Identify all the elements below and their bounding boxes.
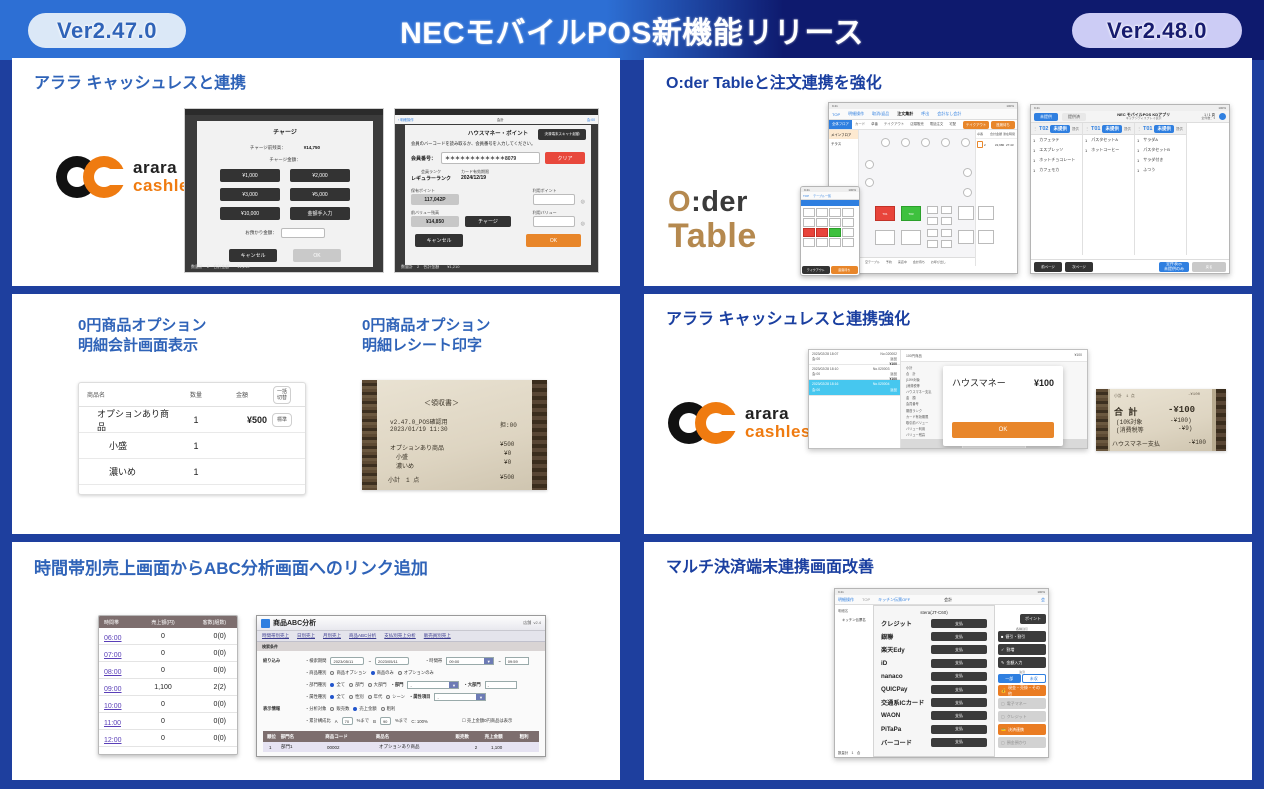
- th-stay: 滞在時間: [1003, 132, 1016, 136]
- card-title: 時間帯別売上画面からABC分析画面へのリンク追加: [12, 542, 620, 580]
- table-header-row: 商品名 数量 金額 一括切替: [79, 383, 305, 407]
- payment-method-dialog: stera(JT-C60) クレジット 支払 銀聯 支払 楽天Edy 支払 i: [873, 605, 995, 757]
- deposit-label: お預かり金額：: [245, 230, 277, 236]
- zero-filter-checkbox[interactable]: ☐ 売上金額0円商品は表示: [462, 718, 512, 724]
- th-profit: 粗利: [520, 734, 539, 740]
- receipt-tax-amount2: -¥9): [1178, 425, 1192, 432]
- order-item[interactable]: 1パスタセットA: [1083, 135, 1134, 145]
- radio-option[interactable]: 商品オプション: [330, 670, 366, 676]
- table-cell-red[interactable]: T01: [875, 206, 895, 221]
- ratio-unit: %まで: [357, 718, 369, 724]
- nav-back[interactable]: ‹ 明細操作: [398, 117, 414, 122]
- th-dept: 部門名: [281, 734, 326, 740]
- payment-method-row[interactable]: 交通系ICカード 支払: [874, 696, 994, 709]
- time-to-select[interactable]: 09:59: [505, 657, 529, 665]
- radio-option[interactable]: 粗利: [381, 706, 396, 712]
- cell-dept: 部門1: [281, 744, 327, 750]
- th-amount: 売上金額: [485, 734, 520, 740]
- nav-detail[interactable]: 明細操作: [848, 111, 864, 117]
- legend-call: お呼び出し: [931, 260, 946, 264]
- result-header-row: 順位 部門名 商品コード 商品名 販売数 売上金額 粗利: [263, 731, 539, 742]
- th-product-name: 商品名: [87, 390, 175, 399]
- attr-select[interactable]: -▼: [434, 693, 486, 701]
- deposit-button[interactable]: ▢預金預かり: [998, 737, 1046, 748]
- dept-type-label: ・部門種別: [305, 682, 326, 688]
- order-column: ⋮ T02 未提供 提供 1カフェラテ 1エスプレッソ 1ホットチョコレート 1…: [1031, 123, 1083, 255]
- card-hourly-abc-link: 時間帯別売上画面からABC分析画面へのリンク追加 時間帯 売上額(円) 客数(組…: [12, 542, 620, 780]
- pay-button[interactable]: 支払: [931, 738, 987, 747]
- history-row[interactable]: 2023/02/28 18:10 No.020003 会:00 返品 ¥100: [809, 365, 900, 380]
- card-title-a-line2: 明細会計画面表示: [78, 336, 298, 356]
- tab-delivery[interactable]: 宅配: [946, 123, 959, 127]
- amount-input-button[interactable]: ✎金額入力: [998, 657, 1046, 668]
- page-header: NECモバイルPOS新機能リリース Ver2.47.0 Ver2.48.0: [0, 0, 1264, 60]
- oder-logo-rest: :der: [691, 186, 748, 218]
- product-type-label: ・商品種別: [305, 670, 326, 676]
- charge-amount-button[interactable]: ¥10,000: [220, 207, 280, 220]
- charge-amount-button[interactable]: ¥5,000: [290, 188, 350, 201]
- nav-user[interactable]: 会:00: [587, 117, 595, 122]
- cancel-button[interactable]: キャンセル: [415, 234, 463, 247]
- nav-link[interactable]: 支払別売上分析: [384, 633, 416, 639]
- order-header: 未提供 提供済 NEC モバイルPOS KDアプリ キッチンディスプレイ表示 1…: [1031, 111, 1229, 123]
- nav-bar: 明細操作 TOP キッチン伝票OFF 会計 会: [835, 595, 1048, 605]
- ratio-b-input[interactable]: 90: [380, 717, 391, 725]
- nav-link[interactable]: 月別売上: [323, 633, 341, 639]
- card-arara-strengthen: アララ キャッシュレスと連携強化 arara cashless 2023/02/…: [644, 294, 1252, 534]
- nav-call[interactable]: 呼出: [921, 111, 929, 117]
- receipt-top-amount: -¥100: [1188, 393, 1200, 397]
- cell-amount: 1,100: [491, 745, 527, 750]
- partial-button[interactable]: 一部: [998, 674, 1021, 683]
- order-column: ⋮ T01 未提供 提供 1パスタセットA 1ホットコーヒー: [1083, 123, 1135, 255]
- cell-sales: 0: [139, 735, 187, 742]
- left-column: アララ キャッシュレスと連携 arara cashless チャージ チャージ前…: [12, 58, 632, 788]
- screenshot-order-tablet: 9:41100% 未提供 提供済 NEC モバイルPOS KDアプリ キッチンデ…: [1030, 104, 1230, 274]
- cell-code: 00002: [327, 745, 379, 750]
- cell-product-name: オプションあり商品: [87, 407, 175, 433]
- pay-button[interactable]: 支払: [931, 645, 987, 654]
- receipt-item-amount: ¥0: [504, 459, 511, 466]
- result-row[interactable]: 1 部門1 00002 オプションあり商品 2 1,100: [263, 742, 539, 752]
- nav-link[interactable]: 販売員別売上: [424, 633, 451, 639]
- th-rank: 順位: [263, 734, 281, 740]
- tab-takeout[interactable]: テイクアウト: [881, 123, 907, 127]
- payment-method-row[interactable]: 楽天Edy 支払: [874, 643, 994, 656]
- receipt-pay-label: ハウスマネー支払: [1112, 439, 1160, 448]
- charge-modal: チャージ チャージ前残高： ¥14,750 チャージ金額： ¥1,000 ¥2,…: [197, 121, 373, 267]
- cell-guests: 0(0): [187, 650, 233, 657]
- badge-unserved[interactable]: 未提供: [1154, 125, 1174, 133]
- radio-option[interactable]: 大部門: [368, 682, 387, 688]
- th-amount: 金額: [217, 390, 267, 399]
- table-row[interactable]: 濃いめ 1: [79, 459, 305, 485]
- amount-label: チャージ金額：: [197, 157, 373, 163]
- radio-option[interactable]: 全て: [330, 694, 345, 700]
- arara-mark-icon: [56, 156, 124, 198]
- member-label: 会員番号：: [411, 155, 436, 162]
- order-table-no: T01: [1143, 126, 1152, 132]
- tab-storefront[interactable]: 店頭販売: [907, 123, 927, 127]
- history-row[interactable]: 2023/02/28 18:07 No.020002 会:00 返品 ¥100: [809, 350, 900, 365]
- order-subtitle: キッチンディスプレイ表示: [1090, 117, 1197, 120]
- ok-button[interactable]: OK: [293, 249, 341, 262]
- badge-unserved[interactable]: 未提供: [1050, 125, 1070, 133]
- emoney-button[interactable]: ▢電子マネー: [998, 698, 1046, 709]
- dialog-title: stera(JT-C60): [874, 606, 994, 617]
- dept-select[interactable]: -▼: [407, 681, 459, 689]
- table-row[interactable]: 06:00 0 0(0): [99, 628, 237, 645]
- manual-amount-button[interactable]: 金額手入力: [290, 207, 350, 220]
- receipt-datetime: 2023/01/19 11:30: [390, 426, 448, 433]
- radio-option[interactable]: 部門: [349, 682, 364, 688]
- card-title-b-line1: 0円商品オプション: [362, 316, 592, 336]
- cell-stay: 27:43: [1006, 143, 1016, 147]
- order-item[interactable]: 1サラダ付き: [1135, 155, 1186, 165]
- screenshot-receipt-photo: 小計 1 点 -¥100 合 計 -¥100 (10%対象 -¥100) (消費…: [1096, 389, 1226, 451]
- payment-method-row[interactable]: WAON 支払: [874, 709, 994, 722]
- cell-guests: 2(2): [187, 684, 233, 691]
- th-time: 時間帯: [99, 619, 139, 626]
- waiting-button[interactable]: 座席待ち: [991, 121, 1015, 129]
- takeout-button[interactable]: テイクアウト: [963, 121, 989, 129]
- cancel-button[interactable]: キャンセル: [229, 249, 277, 262]
- ratio-b-label: B: [373, 719, 376, 724]
- receipt-item-name: 濃いめ: [390, 461, 414, 470]
- cell-guests: 0(0): [187, 701, 233, 708]
- nav-title: 会計: [497, 117, 504, 122]
- pay-button[interactable]: 支払: [931, 632, 987, 641]
- table-row[interactable]: 07:00 0 0(0): [99, 645, 237, 662]
- cell-sales: 0: [139, 701, 187, 708]
- abc-nav: 時間帯別売上 日別売上 月別売上 商品ABC分析 支払別売上分析 販売員別売上: [257, 631, 545, 642]
- payment-method-row[interactable]: nanaco 支払: [874, 670, 994, 683]
- abc-title: 商品ABC分析: [273, 618, 316, 628]
- phone-nav-top[interactable]: TOP: [803, 194, 809, 198]
- cell-sales: 1,100: [139, 684, 187, 691]
- ok-button[interactable]: OK: [526, 234, 581, 247]
- cell-rank: 1: [263, 745, 281, 750]
- payment-method-row[interactable]: 銀聯 支払: [874, 630, 994, 643]
- charge-amount-button[interactable]: ¥1,000: [220, 169, 280, 182]
- receipt-heading: ＜領収書＞: [424, 398, 459, 408]
- surcharge-button[interactable]: ✓割増: [998, 644, 1046, 655]
- prev-page-button[interactable]: 前ページ: [1034, 262, 1062, 272]
- payment-footer: 数量計 1 合: [838, 750, 860, 755]
- charge-amount-button[interactable]: ¥3,000: [220, 188, 280, 201]
- badge-served[interactable]: 提供: [1176, 126, 1183, 131]
- tab-seat[interactable]: 卓番: [868, 123, 881, 127]
- nav-link[interactable]: 日別売上: [297, 633, 315, 639]
- receipt-top-line: 小計 1 点: [1114, 393, 1135, 399]
- nav-top[interactable]: TOP: [862, 597, 870, 602]
- time-from-select[interactable]: 09:00▼: [446, 657, 494, 665]
- nav-user[interactable]: 会: [1041, 597, 1045, 603]
- cell-product-name: 小盛: [87, 439, 175, 452]
- radio-option[interactable]: シーン: [386, 694, 405, 700]
- cell-guests: 0(0): [187, 667, 233, 674]
- receipt-item-name: 小盛: [390, 452, 408, 461]
- arara-mark-icon: [668, 402, 736, 444]
- history-row-selected[interactable]: 2023/02/28 18:16 No.020004 会:00 返品: [809, 380, 900, 395]
- floor-item-terrace[interactable]: テラス: [829, 139, 858, 148]
- nav-kitchen-slip[interactable]: キッチン伝票OFF: [878, 597, 910, 603]
- use-value-input[interactable]: [533, 216, 575, 227]
- screenshot-receipt-photo: ＜領収書＞ v2.47.0_POS確認用 2023/01/19 11:30 担:…: [362, 380, 547, 490]
- table-cell-green[interactable]: T03: [901, 206, 921, 221]
- receipt-staff: 担:00: [500, 420, 517, 429]
- target-label: ・分析対象: [305, 706, 326, 712]
- pay-button[interactable]: 支払: [931, 672, 987, 681]
- payment-link-button[interactable]: 💳決済連携: [998, 724, 1046, 735]
- nav-link[interactable]: 時間帯別売上: [262, 633, 289, 639]
- tab-bar: 全体フロア カード 卓番 テイクアウト 店頭販売 電話注文 宅配 テイクアウト …: [829, 120, 1017, 130]
- tab-served[interactable]: 提供済: [1062, 113, 1086, 121]
- th-total: 合計金額: [990, 132, 1003, 136]
- nav-top[interactable]: TOP: [832, 112, 840, 117]
- screenshot-option-table: 商品名 数量 金額 一括切替 オプションあり商品 1 ¥500 標準 小盛 1 …: [78, 382, 306, 495]
- scan-button[interactable]: 決済端末スキャナ起動: [538, 129, 586, 140]
- receipt-store: v2.47.0_POS確認用: [390, 417, 448, 426]
- receipt-item-amount: ¥0: [504, 450, 511, 457]
- order-table-no: T02: [1039, 126, 1048, 132]
- order-icon: [977, 141, 983, 148]
- window-title-bar: 商品ABC分析 店舗 v2.4: [257, 616, 545, 631]
- phone-nav-tables[interactable]: テーブル一覧: [813, 194, 831, 198]
- back-button[interactable]: 戻る: [1192, 262, 1226, 272]
- table-row[interactable]: 小盛 1: [79, 433, 305, 459]
- expiry-value: 2024/12/19: [461, 175, 489, 181]
- cell-product-name: 濃いめ: [87, 465, 175, 478]
- th-qty: 数量: [175, 390, 217, 399]
- card-multi-payment: マルチ決済端末連携画面改善 9:41100% 明細操作 TOP キッチン伝票OF…: [644, 542, 1252, 780]
- radio-option[interactable]: 商品のみ: [371, 670, 394, 676]
- order-item[interactable]: 1ふつう: [1135, 165, 1186, 175]
- version-badge-right: Ver2.48.0: [1072, 13, 1242, 48]
- discount-button[interactable]: ■値引・割引: [998, 631, 1046, 642]
- deposit-input[interactable]: [281, 228, 325, 238]
- charge-footer: 数量計 2 合計金額 ¥1,210: [191, 264, 249, 270]
- receipt-subtotal-value: ¥500: [500, 474, 514, 481]
- radio-option[interactable]: 全て: [330, 682, 345, 688]
- legend-empty: 空テーブル: [865, 260, 880, 264]
- time-link[interactable]: 10:00: [104, 703, 122, 710]
- radio-option[interactable]: 性別: [349, 694, 364, 700]
- radio-option[interactable]: オプションのみ: [398, 670, 434, 676]
- time-link[interactable]: 11:00: [104, 720, 121, 727]
- ratio-c: C: 100%: [411, 719, 427, 724]
- pay-button[interactable]: 支払: [931, 711, 987, 720]
- order-item[interactable]: 1エスプレッソ: [1031, 145, 1082, 155]
- bulk-toggle-button[interactable]: 一括切替: [273, 386, 291, 404]
- pay-button[interactable]: 支払: [931, 698, 987, 707]
- time-link[interactable]: 09:00: [104, 686, 122, 693]
- gear-icon[interactable]: [1219, 113, 1226, 120]
- receipt-subtotal-label: 小計 1 点: [388, 475, 419, 484]
- order-item[interactable]: 1ホットチョコレート: [1031, 155, 1082, 165]
- filter-toggle-button[interactable]: 全件表示未提供のみ: [1159, 262, 1189, 272]
- pay-button[interactable]: 支払: [931, 725, 987, 734]
- major-dept-label: ・大部門: [463, 682, 480, 688]
- abc-version: v2.4: [533, 620, 541, 625]
- tab-card[interactable]: カード: [852, 123, 868, 127]
- radio-option[interactable]: 年代: [368, 694, 383, 700]
- time-link[interactable]: 12:00: [104, 737, 122, 744]
- unpaid-button[interactable]: 未収: [1022, 674, 1047, 683]
- radio-option[interactable]: 販売数: [330, 706, 349, 712]
- time-link[interactable]: 06:00: [104, 635, 122, 642]
- badge-served[interactable]: 提供: [1124, 126, 1131, 131]
- oder-logo-o: O: [668, 186, 691, 218]
- legend-visiting: 来店中: [898, 260, 907, 264]
- cell-amount: ¥500: [217, 415, 267, 425]
- cell-sales: 0: [139, 633, 187, 640]
- order-count: 全件数：3: [1201, 117, 1215, 121]
- order-table-no: T01: [1091, 126, 1100, 132]
- tab-phone[interactable]: 電話注文: [927, 123, 947, 127]
- floor-map[interactable]: T01 T03 空テーブル: [859, 130, 975, 266]
- order-item[interactable]: 1カフェモカ: [1031, 165, 1082, 175]
- right-column: O:der Tableと注文連携を強化 O:der Table 9:41100%…: [644, 58, 1264, 788]
- table-row[interactable]: 10:00 0 0(0): [99, 696, 237, 713]
- modal-title: ハウスマネー: [952, 376, 1006, 389]
- badge-served[interactable]: 提供: [1072, 126, 1079, 131]
- screenshot-charge-dialog: チャージ チャージ前残高： ¥14,750 チャージ金額： ¥1,000 ¥2,…: [184, 108, 384, 273]
- nav-cancel[interactable]: 取消/返品: [872, 111, 889, 117]
- order-item[interactable]: 1サラダA: [1135, 135, 1186, 145]
- table-row[interactable]: 08:00 0 0(0): [99, 662, 237, 679]
- payment-method-row[interactable]: PiTaPa 支払: [874, 723, 994, 736]
- payment-method-row[interactable]: QUICPay 支払: [874, 683, 994, 696]
- tab-all-floor[interactable]: 全体フロア: [829, 120, 852, 129]
- cell-sales: 0: [139, 650, 187, 657]
- credit-button[interactable]: ▢クレジット: [998, 711, 1046, 722]
- detail-product-amount: ¥100: [1074, 353, 1082, 358]
- screenshot-hourly-sales: 時間帯 売上額(円) 客数(組数) 06:00 0 0(0) 07:00 0 0…: [98, 615, 238, 755]
- payment-method-row[interactable]: クレジット 支払: [874, 617, 994, 630]
- phone-waiting-button[interactable]: 座席待ち: [831, 266, 859, 274]
- clear-button[interactable]: クリア: [545, 152, 585, 164]
- charge-amount-button[interactable]: ¥2,000: [290, 169, 350, 182]
- floor-item-main[interactable]: メインフロア: [829, 130, 858, 139]
- cell-sales: 0: [139, 718, 187, 725]
- period-to-input[interactable]: 2023/05/11: [375, 657, 409, 665]
- screenshot-payment-screen: 9:41100% 明細操作 TOP キッチン伝票OFF 会計 会 明細名 キッチ…: [834, 588, 1049, 758]
- abc-user: 店舗: [523, 620, 531, 625]
- next-page-button[interactable]: 次ページ: [1065, 262, 1093, 272]
- payment-method-row[interactable]: バーコード 支払: [874, 736, 994, 749]
- receipt-item-amount: ¥500: [500, 441, 514, 448]
- table-row[interactable]: 11:00 0 0(0): [99, 713, 237, 730]
- period-from-input[interactable]: 2023/05/11: [330, 657, 364, 665]
- charge-modal-title: チャージ: [197, 127, 373, 136]
- table-row[interactable]: 09:00 1,100 2(2): [99, 679, 237, 696]
- oder-logo-table: Table: [668, 219, 757, 253]
- ratio-a-input[interactable]: 70: [342, 717, 353, 725]
- charge-button[interactable]: チャージ: [465, 216, 511, 227]
- th-sales: 売上額(円): [139, 619, 187, 626]
- arara-logo: arara cashless: [668, 402, 821, 444]
- card-title: アララ キャッシュレスと連携: [12, 58, 620, 95]
- dept-label: ・部門: [391, 682, 404, 688]
- receipt-tax-amount1: -¥100): [1170, 417, 1192, 424]
- ratio-unit-2: %まで: [395, 718, 407, 724]
- cell-guests: 0(0): [187, 735, 233, 742]
- cash-other-button[interactable]: 💰現金・売掛・その他: [998, 685, 1046, 696]
- tab-unserved[interactable]: 未提供: [1034, 113, 1058, 121]
- legend-checkout: 会計待ち: [913, 260, 925, 264]
- order-item[interactable]: 1カフェラテ: [1031, 135, 1082, 145]
- house-money-modal: ハウスマネー ¥100 OK: [943, 366, 1063, 446]
- card-oder-table: O:der Tableと注文連携を強化 O:der Table 9:41100%…: [644, 58, 1252, 286]
- use-point-input[interactable]: [533, 194, 575, 205]
- th-qty: 販売数: [455, 734, 484, 740]
- time-link[interactable]: 08:00: [104, 669, 122, 676]
- nav-noacct[interactable]: 会計なし会計: [937, 111, 961, 117]
- point-footer: 数量計 2 合計金額 ¥1,210: [401, 264, 459, 270]
- time-link[interactable]: 07:00: [104, 652, 122, 659]
- table-row[interactable]: オプションあり商品 1 ¥500 標準: [79, 407, 305, 433]
- cell-name: オプションあり商品: [379, 744, 461, 750]
- pay-button[interactable]: 支払: [931, 619, 987, 628]
- pay-button[interactable]: 支払: [931, 659, 987, 668]
- order-item[interactable]: 1パスタセットB: [1135, 145, 1186, 155]
- cell-qty: 1: [175, 441, 217, 451]
- modal-amount: ¥100: [1034, 378, 1054, 388]
- payment-method-row[interactable]: iD 支払: [874, 657, 994, 670]
- card-arara-cashless: アララ キャッシュレスと連携 arara cashless チャージ チャージ前…: [12, 58, 620, 286]
- table-row[interactable]: 12:00 0 0(0): [99, 730, 237, 747]
- receipt-item-name: オプションあり商品: [390, 443, 444, 452]
- balance-value: ¥14,750: [304, 145, 320, 151]
- ratio-a-label: A: [335, 719, 338, 724]
- rank-value: レギュラーランク: [411, 175, 451, 182]
- screenshot-history: 2023/02/28 18:07 No.020002 会:00 返品 ¥100 …: [808, 349, 1088, 449]
- phone-takeout-button[interactable]: テイクアウト: [802, 266, 830, 274]
- screenshot-phone: 9:41100% TOP テーブル一覧: [800, 186, 860, 276]
- order-item[interactable]: 1ホットコーヒー: [1083, 145, 1134, 155]
- receipt-pay-amount: -¥100: [1188, 439, 1206, 446]
- row-toggle-button[interactable]: 標準: [272, 413, 292, 427]
- oder-table-logo: O:der Table: [668, 188, 757, 253]
- nav-checkout: 会計: [944, 597, 952, 603]
- cell-sales: 0: [139, 667, 187, 674]
- receipt-tax-line2: (消費税等: [1116, 425, 1144, 434]
- ratio-label: ・累計構成比: [305, 718, 331, 724]
- member-input[interactable]: ＊＊＊＊＊＊＊＊＊＊＊＊8079: [441, 152, 540, 164]
- nav-link[interactable]: 商品ABC分析: [349, 633, 376, 639]
- detail-product: 100円商品: [906, 353, 922, 358]
- order-column: ⋮ T01 未提供 提供 1サラダA 1パスタセットB 1サラダ付き 1ふつう: [1135, 123, 1187, 255]
- points-button[interactable]: ポイント: [1020, 614, 1046, 624]
- balance-label: チャージ前残高：: [250, 145, 286, 151]
- radio-option[interactable]: 売上金額: [353, 706, 376, 712]
- modal-ok-button[interactable]: OK: [952, 422, 1054, 438]
- nav-detail[interactable]: 明細操作: [838, 597, 854, 603]
- version-badge-left: Ver2.47.0: [28, 13, 186, 48]
- major-dept-select[interactable]: -: [485, 681, 517, 689]
- attr-item-label: ・属性項目: [409, 694, 430, 700]
- nav-bar: TOP 明細操作 取消/返品 注文集計 呼出 会計なし会計: [829, 109, 1017, 120]
- card-zero-yen-option: 0円商品オプション 明細会計画面表示 0円商品オプション 明細レシート印字 商品…: [12, 294, 620, 534]
- cell-qty: 1: [175, 467, 217, 477]
- cell-total: ¥2,980: [995, 143, 1005, 147]
- card-title-b-line2: 明細レシート印字: [362, 336, 592, 356]
- abc-section-label: 検索条件: [257, 642, 545, 651]
- nav-summary[interactable]: 注文集計: [897, 111, 913, 117]
- badge-unserved[interactable]: 未提供: [1102, 125, 1122, 133]
- pay-button[interactable]: 支払: [931, 685, 987, 694]
